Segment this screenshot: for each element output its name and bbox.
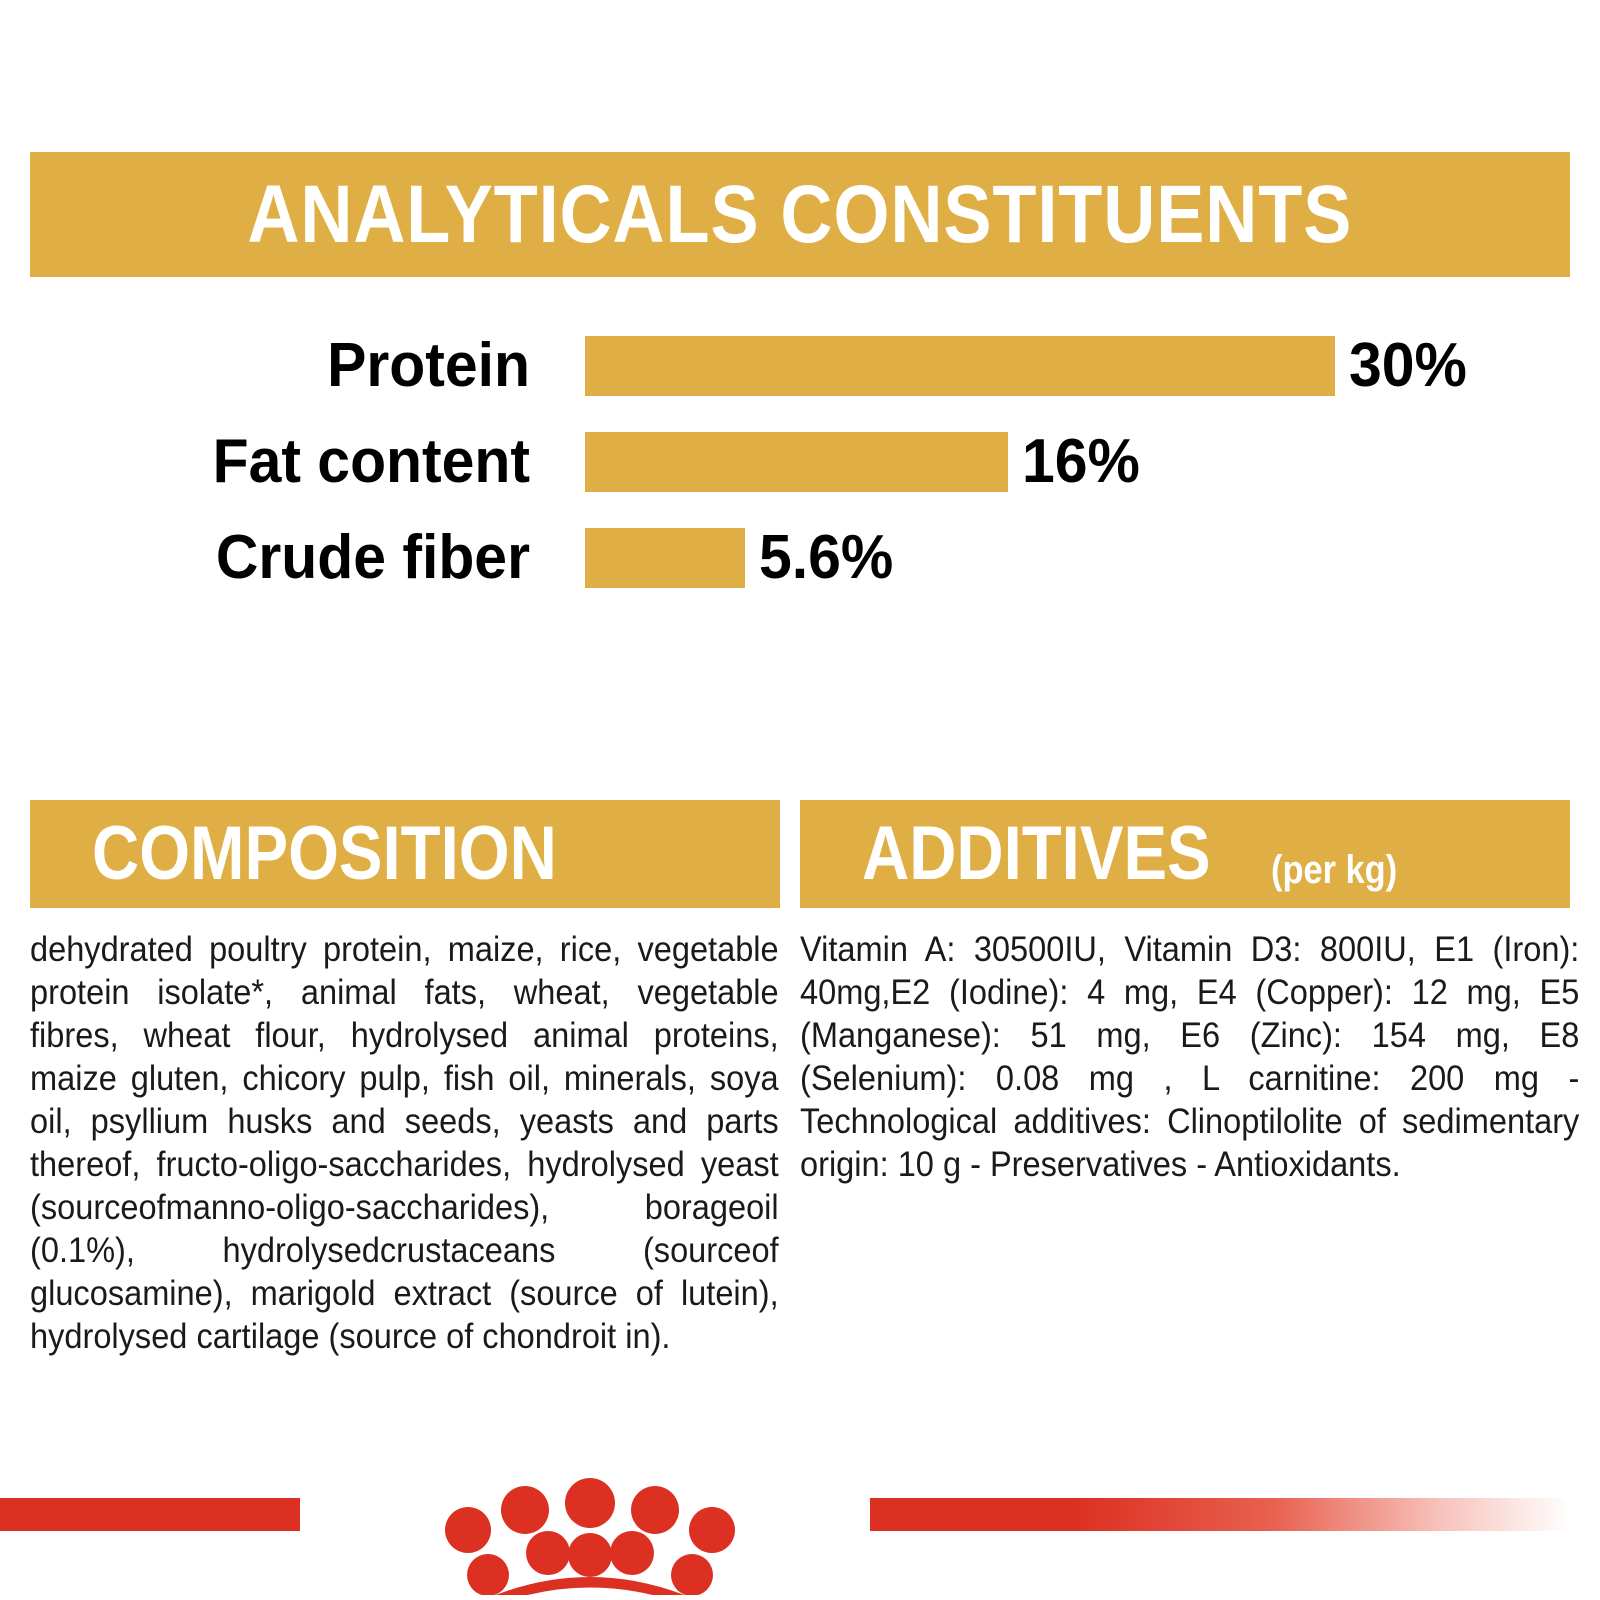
bar-fill-protein bbox=[585, 336, 1335, 396]
analytical-constituents-chart: Protein 30% Fat content 16% Crude fiber … bbox=[0, 318, 1600, 606]
bar-label-crude-fiber: Crude fiber bbox=[84, 527, 531, 589]
chart-row-fat-content: Fat content 16% bbox=[0, 414, 1600, 510]
bar-value-fat-content: 16% bbox=[1022, 431, 1140, 493]
composition-heading: COMPOSITION bbox=[92, 816, 557, 892]
bar-track-fat-content: 16% bbox=[585, 432, 1146, 492]
analyticals-header-banner: ANALYTICALS CONSTITUENTS bbox=[30, 152, 1570, 277]
additives-body-text: Vitamin A: 30500IU, Vitamin D3: 800IU, E… bbox=[800, 928, 1579, 1186]
bar-value-protein: 30% bbox=[1349, 335, 1467, 397]
composition-header-banner: COMPOSITION bbox=[30, 800, 780, 908]
footer-red-bar-right bbox=[870, 1498, 1600, 1531]
royal-canin-crown-logo bbox=[340, 1455, 840, 1595]
bar-value-crude-fiber: 5.6% bbox=[759, 527, 893, 589]
bar-fill-fat-content bbox=[585, 432, 1008, 492]
chart-row-crude-fiber: Crude fiber 5.6% bbox=[0, 510, 1600, 606]
additives-heading: ADDITIVES bbox=[862, 816, 1211, 892]
page-title: ANALYTICALS CONSTITUENTS bbox=[248, 174, 1353, 256]
bar-label-protein: Protein bbox=[84, 335, 531, 397]
footer-red-bar-left bbox=[0, 1498, 300, 1531]
bar-label-fat-content: Fat content bbox=[84, 431, 531, 493]
footer-brand-strip bbox=[0, 1455, 1600, 1600]
chart-row-protein: Protein 30% bbox=[0, 318, 1600, 414]
additives-header-banner: ADDITIVES (per kg) bbox=[800, 800, 1570, 908]
additives-subheading: (per kg) bbox=[1271, 850, 1397, 890]
bar-track-protein: 30% bbox=[585, 336, 1473, 396]
composition-body-text: dehydrated poultry protein, maize, rice,… bbox=[30, 928, 779, 1358]
bar-fill-crude-fiber bbox=[585, 528, 745, 588]
bar-track-crude-fiber: 5.6% bbox=[585, 528, 900, 588]
